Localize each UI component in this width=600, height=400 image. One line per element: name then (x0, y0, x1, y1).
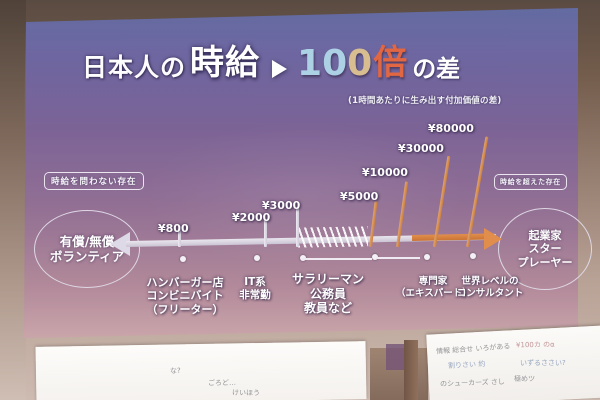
play-triangle-icon (272, 60, 287, 78)
wooden-post (404, 340, 418, 400)
category-connector-0 (302, 258, 372, 260)
whiteboard-note-right-4: いずるささい? (520, 358, 566, 368)
whiteboard-note-right-5: 極めツ (514, 374, 535, 384)
whiteboard-note-right-3: ¥100カ のα (516, 340, 555, 351)
value-label-yen2000: ¥2000 (232, 211, 270, 224)
title-multiplier: 倍 (373, 35, 407, 84)
title-keyword: 時給 (190, 35, 260, 84)
title-number-last: 0 (347, 43, 372, 84)
title-number-first: 10 (297, 43, 347, 84)
value-label-yen800: ¥800 (158, 222, 189, 235)
value-label-yen5000: ¥5000 (340, 190, 378, 203)
whiteboard-note-main-1: ごろど… (208, 378, 236, 388)
whiteboard-note-main-0: な? (170, 366, 181, 377)
badge-left-no-hourly-wage: 時給を問わない存在 (44, 172, 144, 190)
category-label-0: ハンバーガー店コンビニバイト（フリーター） (130, 276, 240, 316)
title-suffix: の差 (412, 49, 460, 84)
axis-right-arrowhead-icon (484, 228, 502, 250)
slide-subtitle: (1時間あたりに生み出す付加価値の差) (348, 94, 502, 106)
category-label-2: サラリーマン公務員教員など (284, 272, 372, 316)
end-circle-star-player-line3: プレーヤー (518, 256, 573, 269)
value-label-yen10000: ¥10000 (362, 166, 408, 179)
title-prefix: 日本人の (82, 48, 186, 84)
category-dot-4 (424, 254, 430, 260)
slide-title: 日本人の 時給 10 0 倍 の差 (82, 38, 552, 84)
badge-right-beyond-hourly-wage: 時給を超えた存在 (494, 174, 567, 190)
hatched-transition-band (298, 226, 368, 247)
whiteboard-note-right-1: 割りさい 約 (448, 359, 486, 371)
wall-left-edge (0, 0, 26, 400)
whiteboard-note-main-2: けいほう (232, 388, 260, 398)
category-dot-5 (470, 253, 476, 259)
whiteboard-main (36, 341, 367, 400)
category-label-1: IT系非常勤 (228, 276, 282, 302)
bar-yen3000 (296, 207, 299, 247)
category-dot-0 (180, 256, 186, 262)
end-circle-star-player-line1: 起業家 (529, 229, 562, 242)
value-label-yen3000: ¥3000 (262, 199, 300, 212)
value-label-yen30000: ¥30000 (398, 142, 444, 155)
end-circle-volunteer-line1: 有償/無償 (60, 234, 115, 249)
value-label-yen80000: ¥80000 (428, 122, 474, 135)
end-circle-star-player-line2: スター (529, 242, 562, 255)
category-connector-1 (376, 257, 420, 259)
category-label-4: 世界レベルのコンサルタント (452, 276, 528, 299)
photo-of-projected-slide: 日本人の 時給 10 0 倍 の差 (1時間あたりに生み出す付加価値の差) 時給… (0, 0, 600, 400)
